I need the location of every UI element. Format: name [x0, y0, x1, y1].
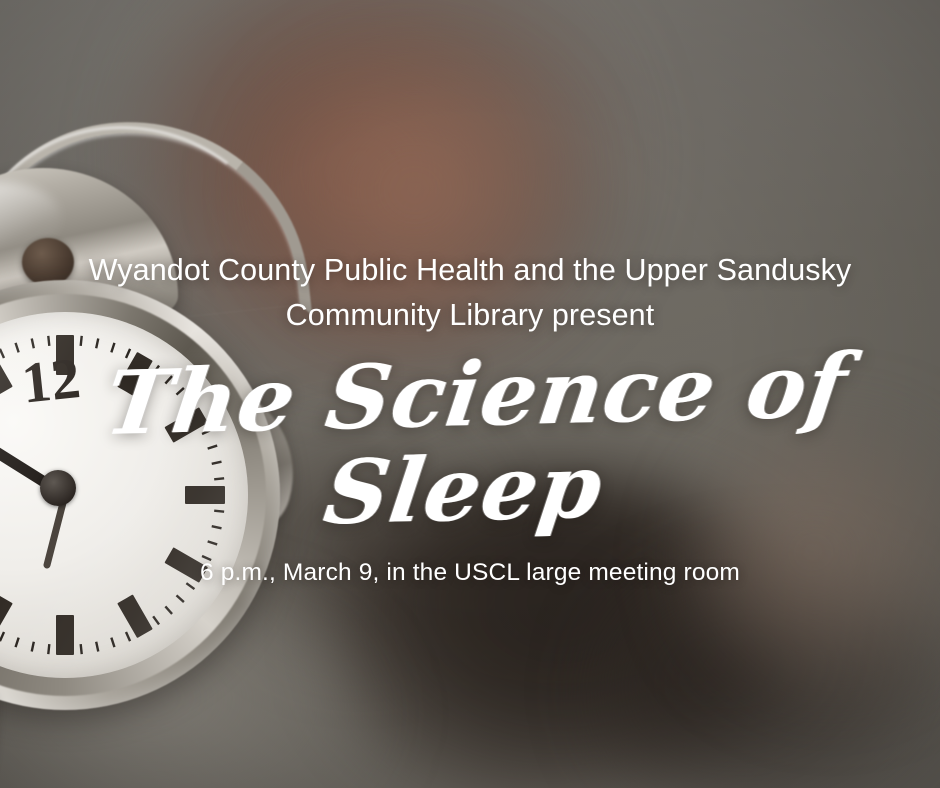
presenter-headline: Wyandot County Public Health and the Upp…: [70, 248, 870, 337]
poster-text-block: Wyandot County Public Health and the Upp…: [0, 0, 940, 788]
page-title: The Science of Sleep: [6, 336, 935, 548]
event-details: 6 p.m., March 9, in the USCL large meeti…: [60, 559, 880, 587]
sleep-event-poster: 12 Wyandot County Public Health and the …: [0, 0, 940, 788]
